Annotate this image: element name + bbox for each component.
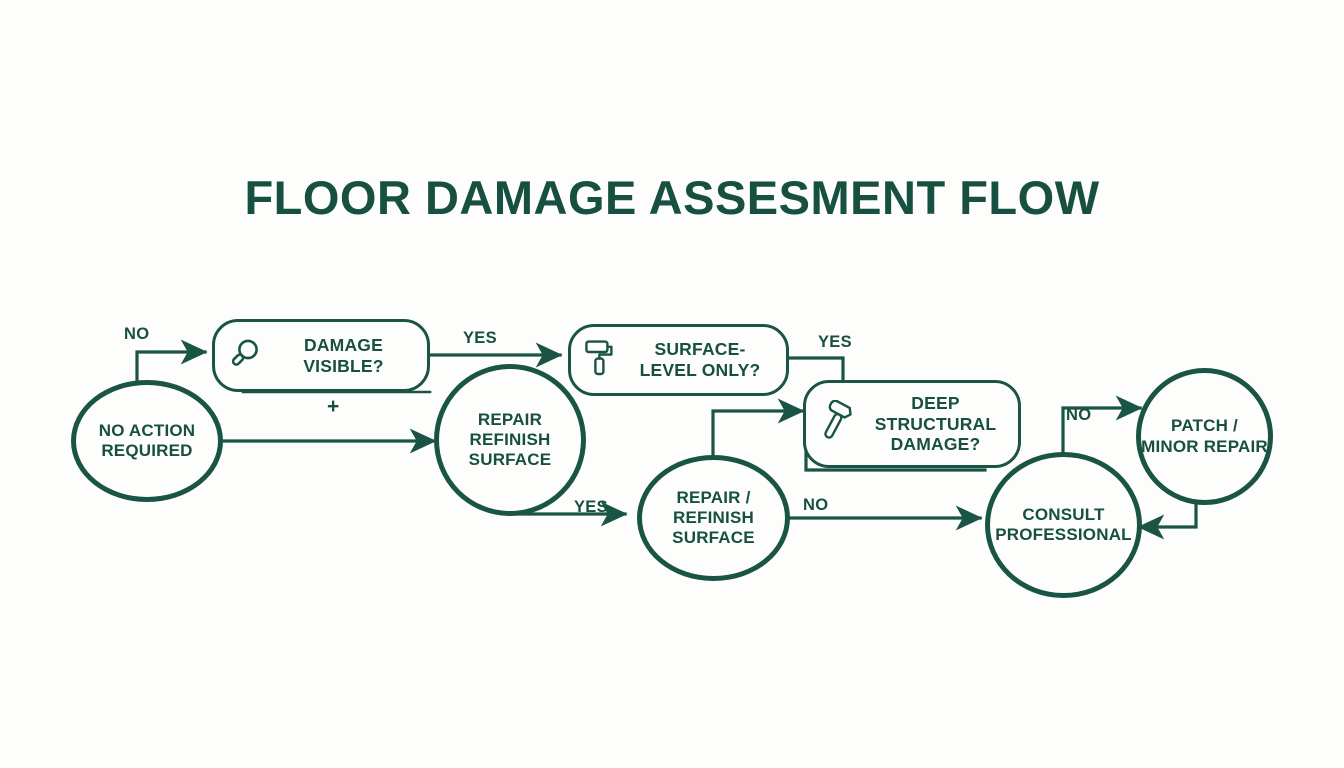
plus-mark-below: +	[327, 396, 339, 417]
edge-label-no-left: NO	[124, 325, 149, 344]
paint-roller-icon	[583, 338, 617, 383]
node-label-damage-visible: DAMAGE VISIBLE?	[272, 335, 415, 376]
magnifier-icon	[227, 335, 263, 376]
edge-label-no-repair-refinish: NO	[803, 496, 828, 515]
hammer-icon	[818, 400, 856, 449]
edge-label-yes-surface-level: YES	[818, 333, 852, 352]
edge-patch-to-consult	[1140, 503, 1196, 527]
edge-label-yes-repair-refinish: YES	[574, 498, 608, 517]
node-consult-professional[interactable]: CONSULT PROFESSIONAL	[985, 452, 1142, 598]
node-no-action-required[interactable]: NO ACTION REQUIRED	[71, 380, 223, 502]
edge-surface-level-to-deep-structural	[789, 358, 843, 381]
node-surface-level-only[interactable]: SURFACE-LEVEL ONLY?	[568, 324, 789, 396]
node-repair-refinish-surface-2[interactable]: REPAIR / REFINISH SURFACE	[637, 455, 790, 581]
edge-label-yes-damage-visible: YES	[463, 329, 497, 348]
node-damage-visible[interactable]: DAMAGE VISIBLE?	[212, 319, 430, 392]
node-label-repair-refinish-surface: REPAIR REFINISH SURFACE	[439, 410, 581, 470]
node-label-patch-minor-repair: PATCH / MINOR REPAIR	[1141, 416, 1268, 456]
edge-label-no-deep-structural: NO	[1066, 406, 1091, 425]
node-patch-minor-repair[interactable]: PATCH / MINOR REPAIR	[1136, 368, 1273, 505]
node-label-no-action-required: NO ACTION REQUIRED	[76, 421, 218, 461]
node-label-surface-level-only: SURFACE-LEVEL ONLY?	[626, 339, 774, 380]
edge-repair-refinish-2-to-deep-structural	[713, 411, 802, 455]
diagram-canvas: FLOOR DAMAGE ASSESMENT FLOW	[0, 0, 1344, 768]
node-label-deep-structural-damage: DEEP STRUCTURAL DAMAGE?	[865, 393, 1006, 455]
node-label-consult-professional: CONSULT PROFESSIONAL	[990, 505, 1137, 545]
node-deep-structural-damage[interactable]: DEEP STRUCTURAL DAMAGE?	[803, 380, 1021, 468]
node-label-repair-refinish-surface-2: REPAIR / REFINISH SURFACE	[642, 488, 785, 548]
node-repair-refinish-surface[interactable]: REPAIR REFINISH SURFACE	[434, 364, 586, 516]
